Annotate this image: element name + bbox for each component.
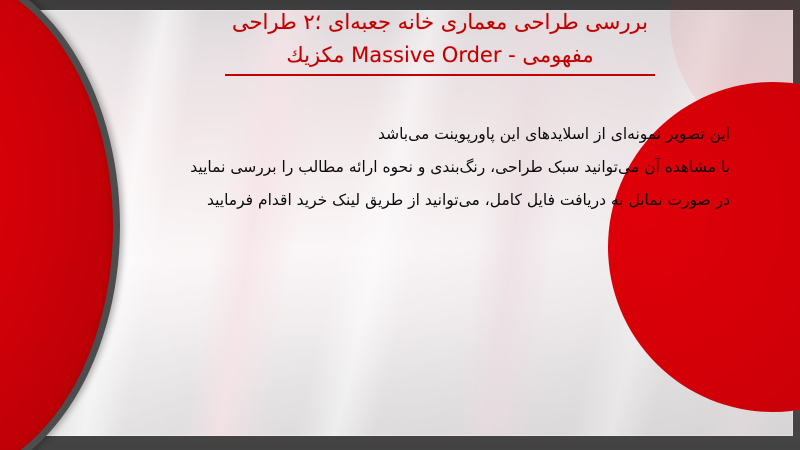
slide-title-line-1: بررسی طراحی معماری خانه جعبه‌ای ؛۲ طراحی <box>120 6 760 39</box>
body-line-2: با مشاهده آن می‌توانید سبک طراحی، رنگ‌بن… <box>150 151 730 184</box>
slide-body-text: این تصویر نمونه‌ای از اسلایدهای این پاور… <box>150 118 730 217</box>
slide-title: بررسی طراحی معماری خانه جعبه‌ای ؛۲ طراحی… <box>120 6 760 76</box>
slide-title-line-2: مفهومی - Massive Order مکزيك <box>120 39 760 72</box>
presentation-slide: بررسی طراحی معماری خانه جعبه‌ای ؛۲ طراحی… <box>0 0 800 450</box>
body-line-3: در صورت تمایل به دریافت فایل کامل، می‌تو… <box>150 184 730 217</box>
slide-content: بررسی طراحی معماری خانه جعبه‌ای ؛۲ طراحی… <box>0 0 800 450</box>
body-line-1: این تصویر نمونه‌ای از اسلایدهای این پاور… <box>150 118 730 151</box>
title-underline-rule <box>225 74 655 76</box>
